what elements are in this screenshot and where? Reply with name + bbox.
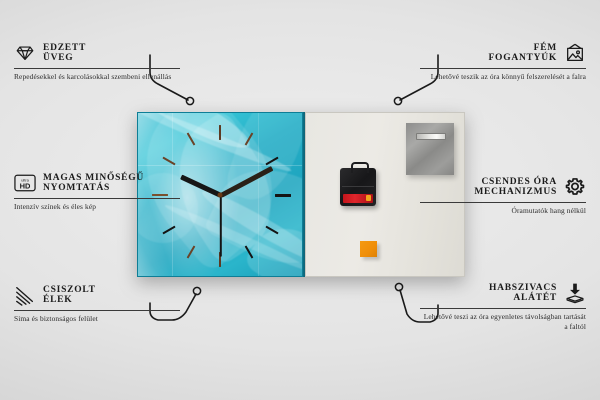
glass-reflection xyxy=(138,165,303,166)
feature-title-line2: ÜVEG xyxy=(43,53,86,63)
feature-title-line1: CSISZOLT xyxy=(43,285,96,295)
feature-description: Sima és biztonságos felület xyxy=(14,314,180,324)
divider xyxy=(14,198,180,199)
feature-title-line1: CSENDES ÓRA xyxy=(481,177,557,187)
feature-description: Lehetővé teszi az óra egyenletes távolsá… xyxy=(420,312,586,332)
clock-mechanism-box xyxy=(340,168,376,206)
clock-tick xyxy=(275,194,291,197)
feature-title: HABSZIVACS ALÁTÉT xyxy=(489,283,557,304)
divider xyxy=(14,310,180,311)
ultra-hd-icon: ultra HD xyxy=(14,172,36,194)
divider xyxy=(420,308,586,309)
feature-title-line2: NYOMTATÁS xyxy=(43,183,144,193)
divider xyxy=(420,68,586,69)
infographic-canvas: EDZETT ÜVEG Repedésekkel és karcolásokka… xyxy=(0,0,600,400)
polished-edges-icon xyxy=(14,284,36,306)
feature-header: CSENDES ÓRA MECHANIZMUS xyxy=(420,176,586,198)
foam-pad xyxy=(360,241,377,257)
feature-description: Repedésekkel és karcolásokkal szembeni e… xyxy=(14,72,180,82)
connector-endpoint-edge xyxy=(193,287,200,294)
feature-title-line2: ALÁTÉT xyxy=(513,293,557,303)
connector-endpoint-foam xyxy=(395,283,402,290)
feature-description: Óramutatók hang nélkül xyxy=(420,206,586,216)
svg-text:HD: HD xyxy=(20,182,31,191)
feature-header: EDZETT ÜVEG xyxy=(14,42,180,64)
clock-second-hand xyxy=(220,195,222,257)
mechanism-seam xyxy=(342,186,374,187)
battery-terminal xyxy=(366,195,371,201)
feature-title: MAGAS MINŐSÉGŰ NYOMTATÁS xyxy=(43,173,144,194)
foam-pad-icon xyxy=(564,282,586,304)
clock-center-hub xyxy=(218,192,223,197)
feature-title-line2: MECHANIZMUS xyxy=(474,187,557,197)
feature-header: CSISZOLT ÉLEK xyxy=(14,284,180,306)
feature-title: EDZETT ÜVEG xyxy=(43,43,86,64)
feature-header: HABSZIVACS ALÁTÉT xyxy=(420,282,586,304)
feature-tempered-glass[interactable]: EDZETT ÜVEG Repedésekkel és karcolásokka… xyxy=(14,42,180,82)
feature-metal-handles[interactable]: FÉM FOGANTYÚK Lehetővé teszik az óra kön… xyxy=(420,42,586,82)
picture-hanger-icon xyxy=(564,42,586,64)
product-image xyxy=(137,112,465,277)
feature-title-line1: EDZETT xyxy=(43,43,86,53)
feature-title: CSENDES ÓRA MECHANIZMUS xyxy=(474,177,557,198)
metal-hanger-plate xyxy=(406,123,454,175)
feature-description: Lehetővé teszik az óra könnyű felszerelé… xyxy=(420,72,586,82)
hanger-slot xyxy=(416,133,446,140)
mechanism-hanging-loop xyxy=(351,162,369,173)
feature-header: ultra HD MAGAS MINŐSÉGŰ NYOMTATÁS xyxy=(14,172,180,194)
feature-foam-pad[interactable]: HABSZIVACS ALÁTÉT Lehetővé teszi az óra … xyxy=(420,282,586,332)
feature-header: FÉM FOGANTYÚK xyxy=(420,42,586,64)
gear-icon xyxy=(564,176,586,198)
feature-high-quality-print[interactable]: ultra HD MAGAS MINŐSÉGŰ NYOMTATÁS Intenz… xyxy=(14,172,180,212)
divider xyxy=(14,68,180,69)
feature-title-line1: HABSZIVACS xyxy=(489,283,557,293)
battery xyxy=(343,194,373,203)
feature-silent-mechanism[interactable]: CSENDES ÓRA MECHANIZMUS Óramutatók hang … xyxy=(420,176,586,216)
feature-title: FÉM FOGANTYÚK xyxy=(489,43,558,64)
divider xyxy=(420,202,586,203)
feature-title-line1: FÉM xyxy=(534,43,557,53)
connector-endpoint-glass xyxy=(186,97,193,104)
feature-title-line2: ÉLEK xyxy=(43,295,96,305)
feature-title-line2: FOGANTYÚK xyxy=(489,53,558,63)
connector-endpoint-handle xyxy=(394,97,401,104)
feature-title: CSISZOLT ÉLEK xyxy=(43,285,96,306)
glass-reflection xyxy=(258,113,259,277)
feature-polished-edges[interactable]: CSISZOLT ÉLEK Sima és biztonságos felüle… xyxy=(14,284,180,324)
feature-description: Intenzív színek és éles kép xyxy=(14,202,180,212)
feature-title-line1: MAGAS MINŐSÉGŰ xyxy=(43,173,144,183)
diamond-icon xyxy=(14,42,36,64)
